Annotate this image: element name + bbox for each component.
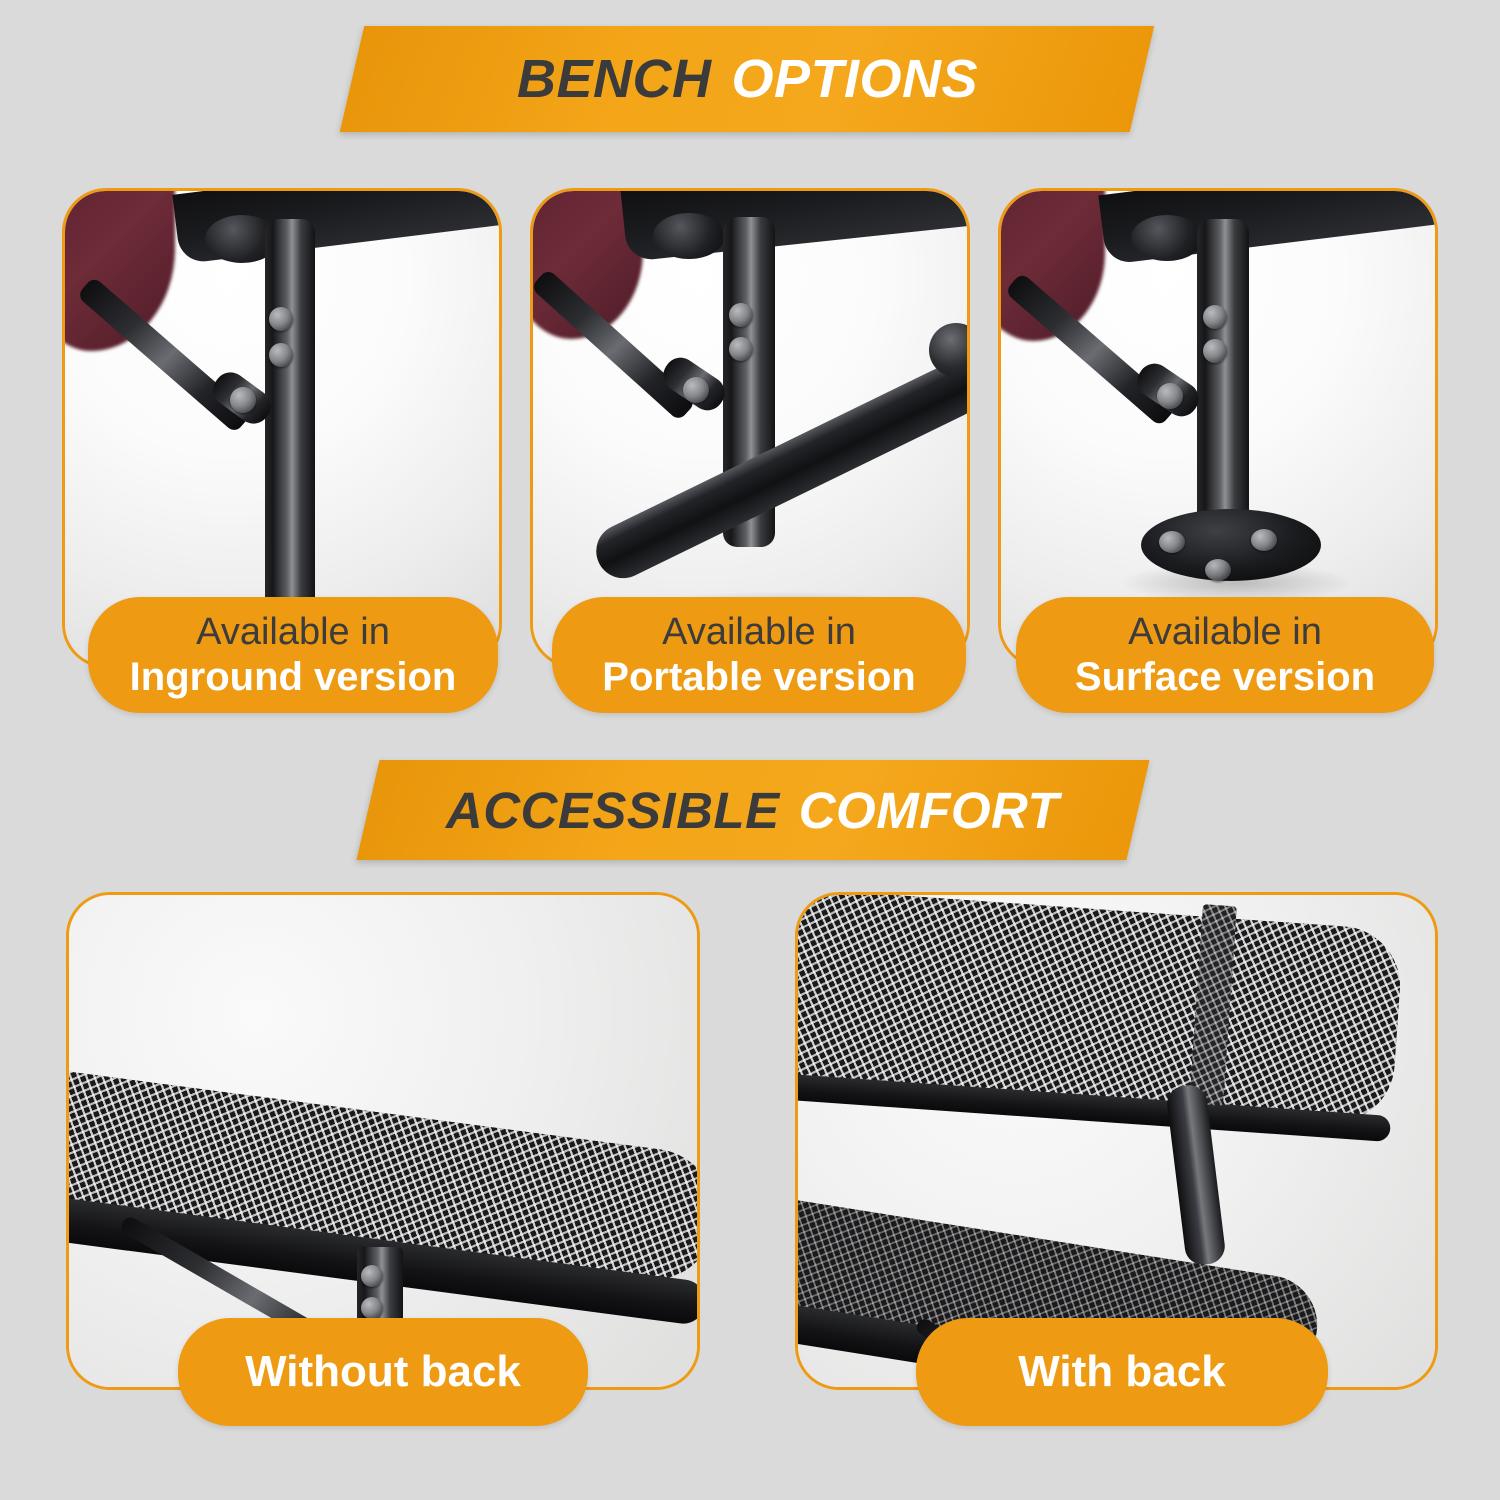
card-inground [62,188,502,668]
portable-mount-photo [533,191,967,665]
label-without-back-text: Without back [245,1346,521,1397]
label-with-back-text: With back [1018,1346,1225,1397]
card-without-back [66,892,700,1390]
banner-bench-dark-word: BENCH [517,49,712,109]
bench-without-back-photo [69,895,697,1387]
label-portable-line1: Available in [662,610,856,654]
card-portable [530,188,970,668]
label-without-back: Without back [178,1318,588,1426]
banner-bench-light-word: OPTIONS [715,49,977,109]
label-inground-line2: Inground version [130,654,457,700]
card-with-back [795,892,1438,1390]
inground-mount-photo [65,191,499,665]
label-surface: Available in Surface version [1016,597,1434,713]
label-surface-line1: Available in [1128,610,1322,654]
label-portable-line2: Portable version [602,654,915,700]
bench-with-back-photo [798,895,1435,1387]
banner-comfort-dark-word: ACCESSIBLE [446,782,780,839]
banner-bench-options: BENCH OPTIONS [340,26,1154,132]
surface-mount-photo [1001,191,1435,665]
label-portable: Available in Portable version [552,597,966,713]
banner-accessible-comfort: ACCESSIBLE COMFORT [356,760,1149,860]
infographic-page: BENCH OPTIONS Available in I [0,0,1500,1500]
banner-comfort-light-word: COMFORT [785,782,1060,839]
label-surface-line2: Surface version [1075,654,1375,700]
label-inground-line1: Available in [196,610,390,654]
label-with-back: With back [916,1318,1328,1426]
card-surface [998,188,1438,668]
label-inground: Available in Inground version [88,597,498,713]
